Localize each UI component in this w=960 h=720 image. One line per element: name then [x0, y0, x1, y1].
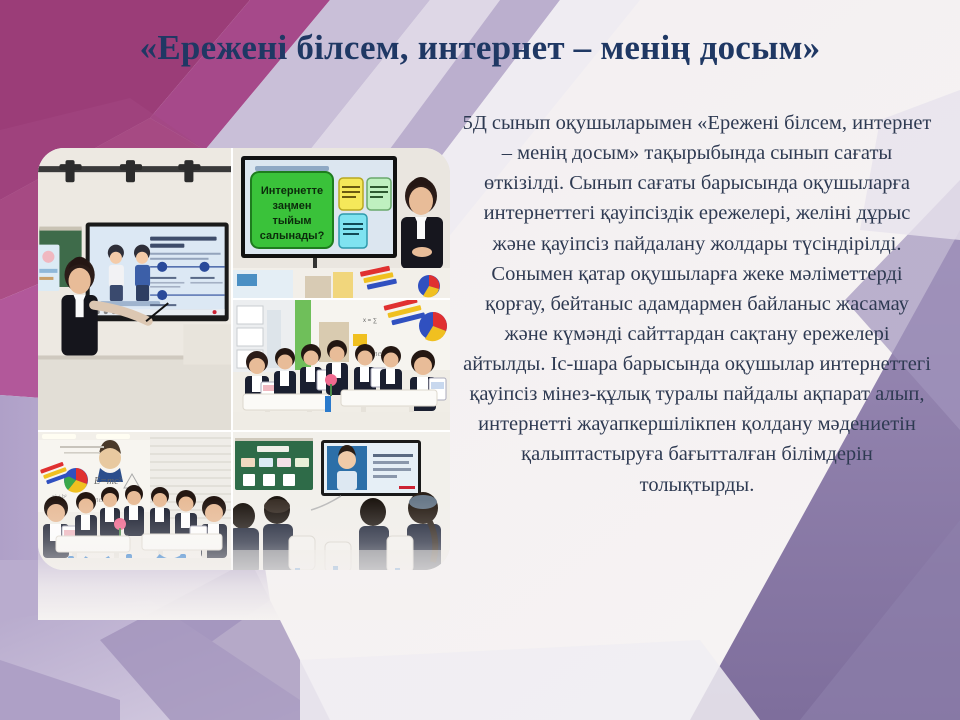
photo-screen-quiz: Интернетте заңмен тыйым салынады? [233, 148, 450, 298]
page-title-text: «Ережені білсем, интернет – менің досым» [140, 28, 821, 68]
photo-classroom-wide: E=mc² a² + b² Сәлем [38, 432, 231, 570]
svg-text:салынады?: салынады? [260, 230, 325, 242]
presentation-slide: «Ережені білсем, интернет – менің досым» [0, 0, 960, 720]
page-title: «Ережені білсем, интернет – менің досым» [0, 28, 960, 68]
facet-right-wedge-3 [800, 520, 960, 720]
svg-text:заңмен: заңмен [273, 200, 312, 212]
svg-text:Интернетте: Интернетте [261, 185, 323, 197]
svg-text:E=mc²: E=mc² [93, 476, 123, 487]
facet-magenta-mid [150, 0, 330, 150]
photo-students-watching [233, 432, 450, 570]
facet-bottom-wash [300, 640, 760, 720]
facet-bottom-left-2 [100, 560, 330, 720]
photo-teacher-board [38, 148, 231, 430]
svg-text:тыйым: тыйым [272, 215, 311, 227]
svg-text:x = ∑: x = ∑ [363, 318, 377, 324]
facet-bottom-left-3 [0, 660, 120, 720]
body-text-block: 5Д сынып оқушыларымен «Ережені білсем, и… [462, 108, 932, 500]
facet-bottom-left [0, 600, 300, 720]
photo-collage: Интернетте заңмен тыйым салынады? [38, 148, 450, 570]
photo-students-desks: x = ∑ Сәлем [233, 300, 450, 430]
body-paragraph: 5Д сынып оқушыларымен «Ережені білсем, и… [462, 108, 932, 500]
